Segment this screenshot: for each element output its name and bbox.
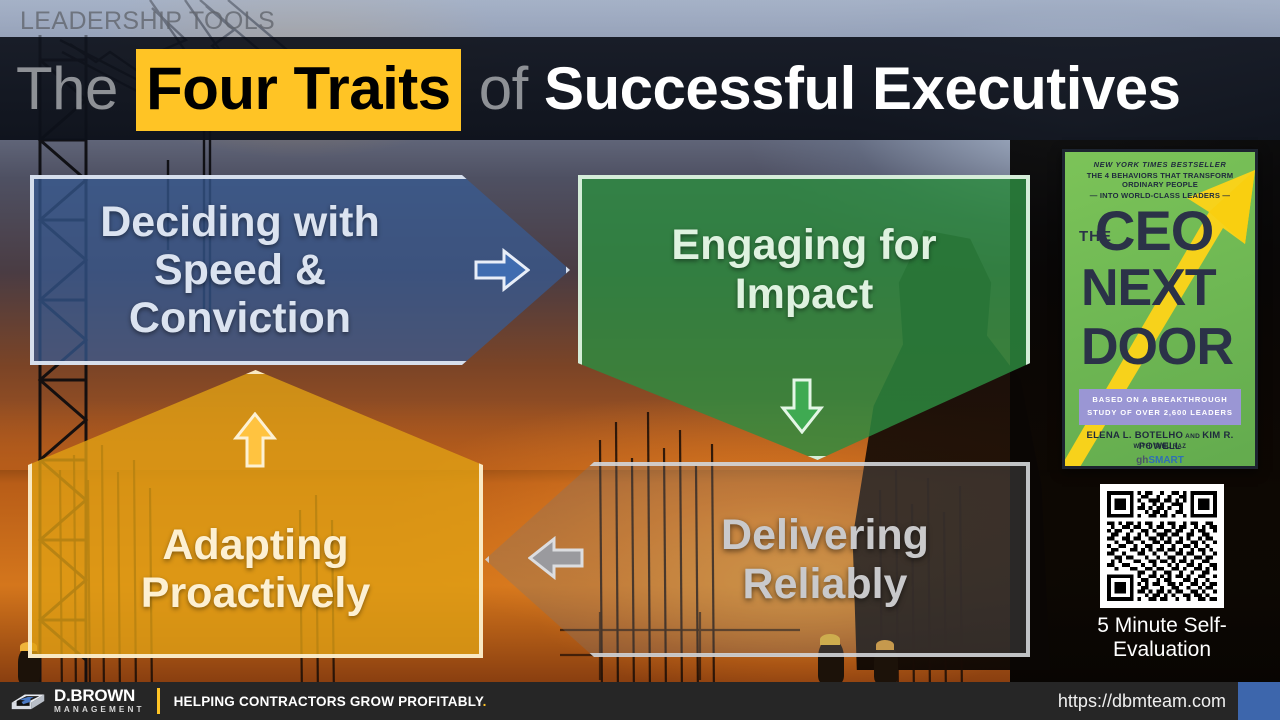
logo-company-subtitle: MANAGEMENT <box>54 706 145 714</box>
footer-blue-accent <box>1238 682 1280 720</box>
footer-url[interactable]: https://dbmteam.com <box>1058 691 1226 712</box>
qr-caption: 5 Minute Self-Evaluation <box>1062 614 1262 662</box>
arrow-up-icon <box>233 412 277 468</box>
book-author-1: ELENA L. BOTELHO <box>1086 430 1183 441</box>
title-part-of: of <box>463 55 544 122</box>
footer-tagline-text: HELPING CONTRACTORS GROW PROFITABLY <box>174 694 483 709</box>
book-subtitle-line-1: THE 4 BEHAVIORS THAT TRANSFORM ORDINARY … <box>1065 171 1255 189</box>
title-part-successful-executives: Successful Executives <box>544 55 1181 122</box>
book-publisher-smart: SMART <box>1148 455 1184 466</box>
footer-bar: D.BROWN MANAGEMENT HELPING CONTRACTORS G… <box>0 682 1280 720</box>
footer-tagline: HELPING CONTRACTORS GROW PROFITABLY. <box>174 694 487 709</box>
book-author-conjunction: AND <box>1183 433 1202 440</box>
book-top-text: NEW YORK TIMES BESTSELLER THE 4 BEHAVIOR… <box>1065 160 1255 200</box>
book-contributor: WITH TAHL RAZ <box>1065 444 1255 450</box>
dbrown-logo-icon <box>8 688 48 714</box>
dbrown-logo-text: D.BROWN MANAGEMENT <box>54 687 145 714</box>
book-nyt-line: NEW YORK TIMES BESTSELLER <box>1065 160 1255 169</box>
book-band-line-2: STUDY OF OVER 2,600 LEADERS <box>1081 407 1239 420</box>
footer-tagline-dot: . <box>483 694 487 709</box>
arrow-right-icon <box>474 248 530 292</box>
qr-code[interactable] <box>1100 484 1224 608</box>
book-publisher-logo: ghSMART <box>1065 455 1255 466</box>
book-word-ceo: CEO <box>1095 205 1213 257</box>
book-band-line-1: BASED ON A BREAKTHROUGH <box>1081 394 1239 407</box>
title-band: The Four Traits of Successful Executives <box>0 37 1280 140</box>
qr-code-image <box>1107 491 1217 601</box>
book-study-band: BASED ON A BREAKTHROUGH STUDY OF OVER 2,… <box>1079 389 1241 425</box>
book-word-door: DOOR <box>1081 324 1233 372</box>
page-title: The Four Traits of Successful Executives <box>0 59 1181 119</box>
footer-divider <box>157 688 160 714</box>
slide: LEADERSHIP TOOLS The Four Traits of Succ… <box>0 0 1280 720</box>
arrow-down-icon <box>780 378 824 434</box>
title-highlight-four-traits: Four Traits <box>136 49 461 131</box>
book-publisher-gh: gh <box>1136 455 1148 466</box>
arrow-left-icon <box>528 536 584 580</box>
book-word-next: NEXT <box>1081 265 1216 313</box>
logo-company-name: D.BROWN <box>54 687 145 704</box>
eyebrow-label: LEADERSHIP TOOLS <box>20 7 275 36</box>
book-cover-ceo-next-door: NEW YORK TIMES BESTSELLER THE 4 BEHAVIOR… <box>1062 149 1258 469</box>
title-part-the: The <box>16 55 134 122</box>
